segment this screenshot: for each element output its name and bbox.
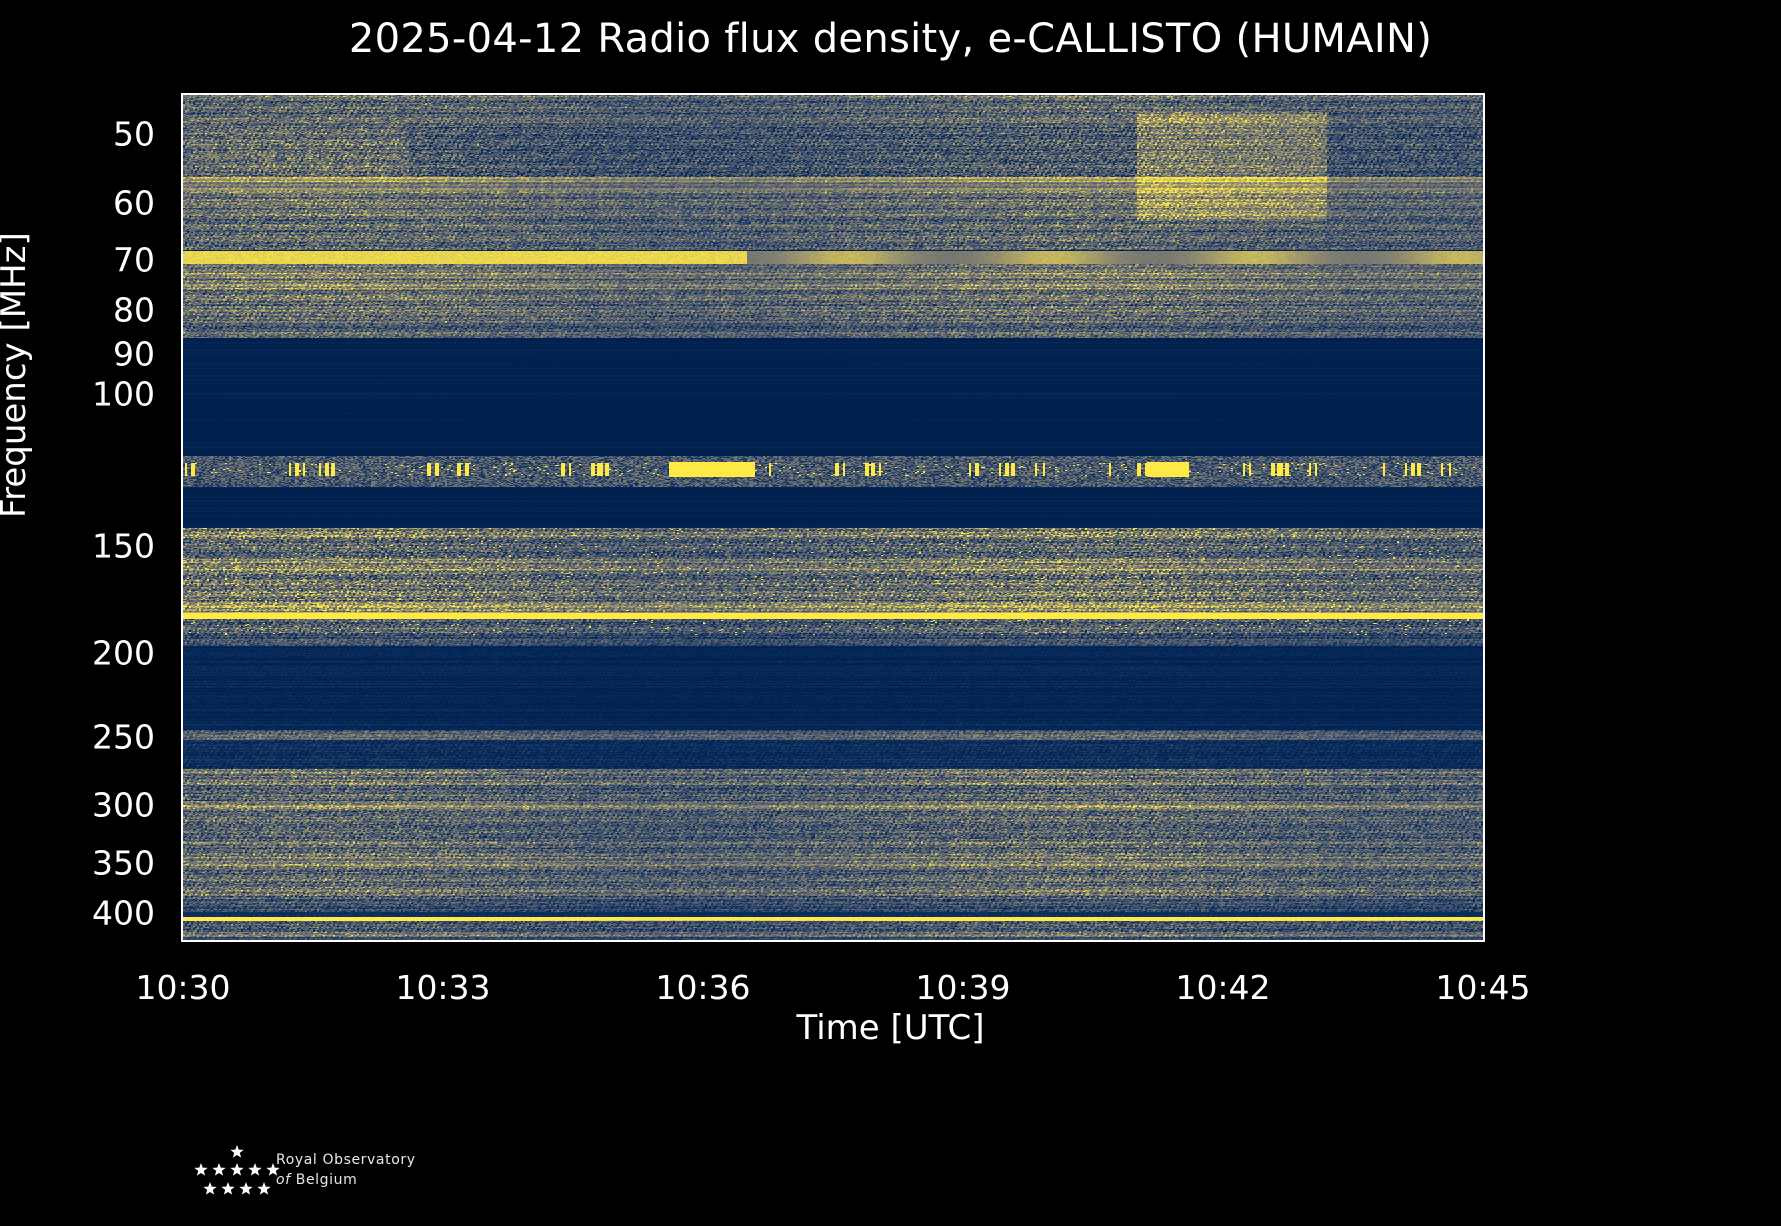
y-tick-label: 300 xyxy=(0,786,155,825)
x-tick-label: 10:36 xyxy=(655,968,750,1007)
x-tick-label: 10:39 xyxy=(915,968,1010,1007)
y-tick-label: 350 xyxy=(0,843,155,882)
spectrogram-image xyxy=(183,95,1483,940)
y-tick-label: 200 xyxy=(0,634,155,673)
x-tick-label: 10:42 xyxy=(1175,968,1270,1007)
spectrogram-figure: 2025-04-12 Radio flux density, e-CALLIST… xyxy=(0,0,1781,1226)
x-tick-label: 10:33 xyxy=(395,968,490,1007)
y-tick-label: 250 xyxy=(0,717,155,756)
logo-line-1: Royal Observatory xyxy=(276,1150,416,1170)
y-tick-label: 50 xyxy=(0,115,155,154)
y-axis-label: Frequency [MHz] xyxy=(0,232,34,518)
logo-line-2: of Belgium xyxy=(276,1170,416,1190)
x-tick-label: 10:30 xyxy=(135,968,230,1007)
y-tick-label: 150 xyxy=(0,526,155,565)
x-axis-label: Time [UTC] xyxy=(0,1008,1781,1048)
y-tick-label: 400 xyxy=(0,893,155,932)
x-tick-label: 10:45 xyxy=(1435,968,1530,1007)
logo-text: Royal Observatory of Belgium xyxy=(276,1150,416,1191)
logo-belgium: Belgium xyxy=(296,1172,358,1188)
y-tick-label: 60 xyxy=(0,183,155,222)
spectrogram-plot-area[interactable] xyxy=(183,95,1483,940)
page-title: 2025-04-12 Radio flux density, e-CALLIST… xyxy=(0,16,1781,62)
royal-observatory-logo: Royal Observatory of Belgium xyxy=(178,1144,418,1214)
logo-of: of xyxy=(276,1172,291,1188)
